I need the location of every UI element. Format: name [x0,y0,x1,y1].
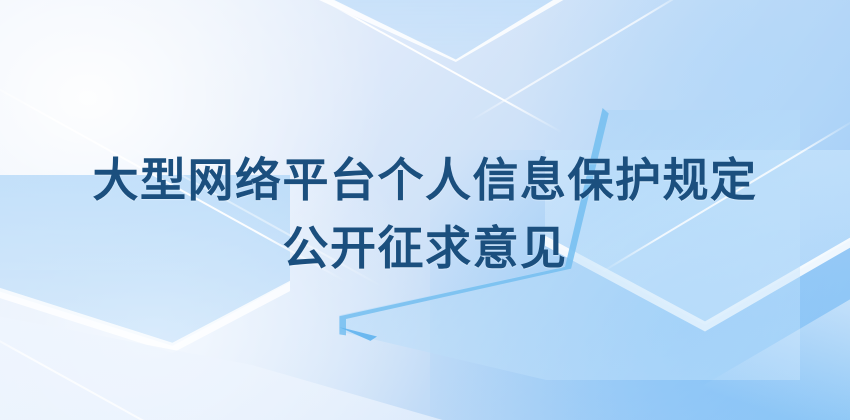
banner-title: 大型网络平台个人信息保护规定 公开征求意见 [0,146,850,282]
light-streak-icon [0,318,257,420]
news-banner: 大型网络平台个人信息保护规定 公开征求意见 [0,0,850,420]
banner-title-line-2: 公开征求意见 [0,214,850,282]
light-streak-icon [470,0,694,122]
light-streak-icon [299,0,562,133]
chevron-top-highlight [250,0,670,62]
banner-title-line-1: 大型网络平台个人信息保护规定 [0,146,850,214]
chevron-top-icon [250,0,670,60]
